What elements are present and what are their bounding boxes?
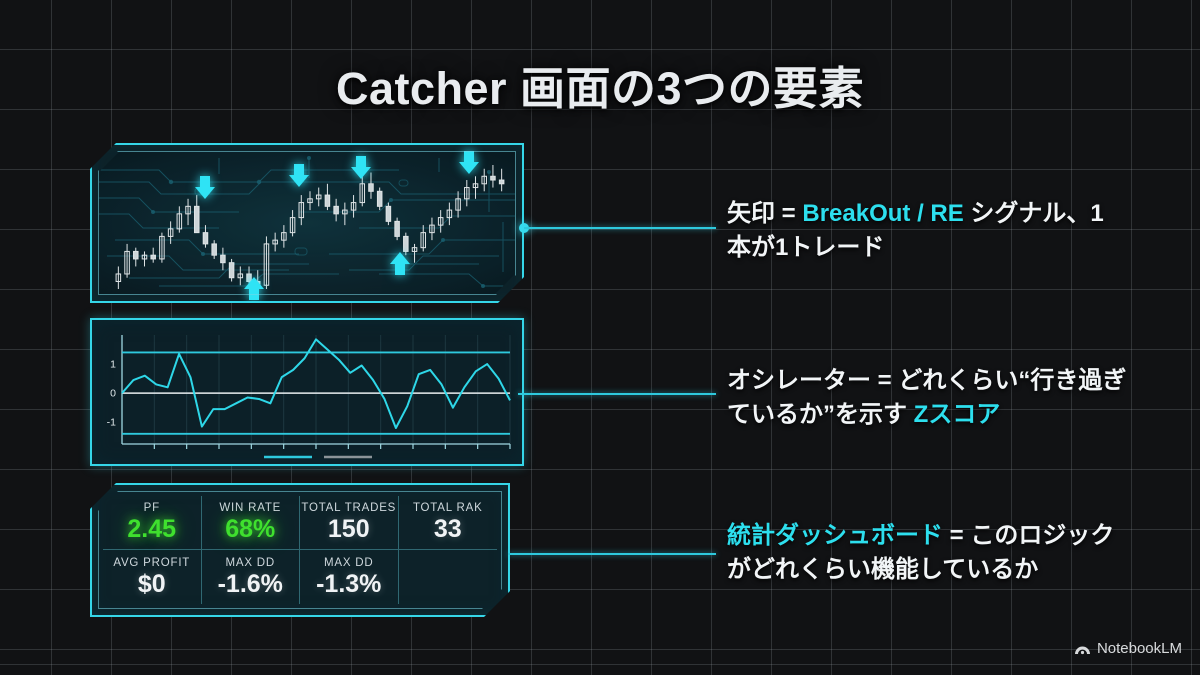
stats-grid: PF2.45WIN RATE68%TOTAL TRADES150TOTAL RA… bbox=[103, 496, 497, 604]
stat-cell: TOTAL TRADES150 bbox=[300, 496, 399, 550]
connector-line-candles bbox=[524, 227, 716, 229]
stat-value: $0 bbox=[138, 571, 166, 597]
notebooklm-icon bbox=[1074, 641, 1091, 656]
annotation-arrows-highlight: BreakOut / RE bbox=[802, 200, 963, 227]
stat-cell: TOTAL RAK33 bbox=[399, 496, 498, 550]
stat-cell: PF2.45 bbox=[103, 496, 202, 550]
y-tick-label: -1 bbox=[107, 417, 116, 429]
stat-value: 68% bbox=[225, 516, 275, 542]
stat-cell bbox=[399, 550, 498, 604]
stat-label: MAX DD bbox=[225, 557, 275, 569]
stat-label: PF bbox=[144, 502, 160, 514]
stat-cell: MAX DD-1.3% bbox=[300, 550, 399, 604]
annotation-arrows-prefix: 矢印 = bbox=[727, 200, 802, 227]
candlestick-panel bbox=[90, 143, 524, 303]
stat-label: WIN RATE bbox=[219, 502, 281, 514]
zscore-line-chart: 10-1 bbox=[90, 318, 524, 466]
watermark: NotebookLM bbox=[1074, 640, 1182, 657]
stats-panel: PF2.45WIN RATE68%TOTAL TRADES150TOTAL RA… bbox=[90, 483, 510, 617]
panel-border-inner bbox=[98, 151, 516, 295]
watermark-label: NotebookLM bbox=[1097, 640, 1182, 657]
stat-label: TOTAL TRADES bbox=[301, 502, 396, 514]
stat-label: TOTAL RAK bbox=[413, 502, 483, 514]
stat-value: 33 bbox=[434, 516, 462, 542]
y-tick-label: 1 bbox=[110, 359, 116, 371]
stat-cell: MAX DD-1.6% bbox=[202, 550, 301, 604]
stat-value: -1.6% bbox=[218, 571, 283, 597]
stat-value: 2.45 bbox=[127, 516, 176, 542]
connector-line-oscillator bbox=[518, 393, 716, 395]
oscillator-panel: 10-1 bbox=[90, 318, 524, 466]
annotation-oscillator-highlight: Zスコア bbox=[914, 401, 1001, 428]
annotation-dashboard-highlight: 統計ダッシュボード bbox=[727, 522, 943, 549]
annotation-arrows: 矢印 = BreakOut / RE シグナル、1本が1トレード bbox=[727, 197, 1127, 265]
annotation-dashboard: 統計ダッシュボード = このロジックがどれくらい機能しているか bbox=[727, 519, 1137, 587]
stat-cell: WIN RATE68% bbox=[202, 496, 301, 550]
stat-cell: AVG PROFIT$0 bbox=[103, 550, 202, 604]
stat-label: AVG PROFIT bbox=[113, 557, 190, 569]
annotation-oscillator: オシレーター = どれくらい“行き過ぎているか”を示す Zスコア bbox=[727, 364, 1127, 432]
stat-label: MAX DD bbox=[324, 557, 374, 569]
y-tick-label: 0 bbox=[110, 388, 116, 400]
stat-value: -1.3% bbox=[316, 571, 381, 597]
connector-line-stats bbox=[508, 553, 716, 555]
page-title: Catcher 画面の3つの要素 bbox=[0, 52, 1200, 117]
slide-canvas: Catcher 画面の3つの要素 bbox=[0, 0, 1200, 675]
stat-value: 150 bbox=[328, 516, 370, 542]
